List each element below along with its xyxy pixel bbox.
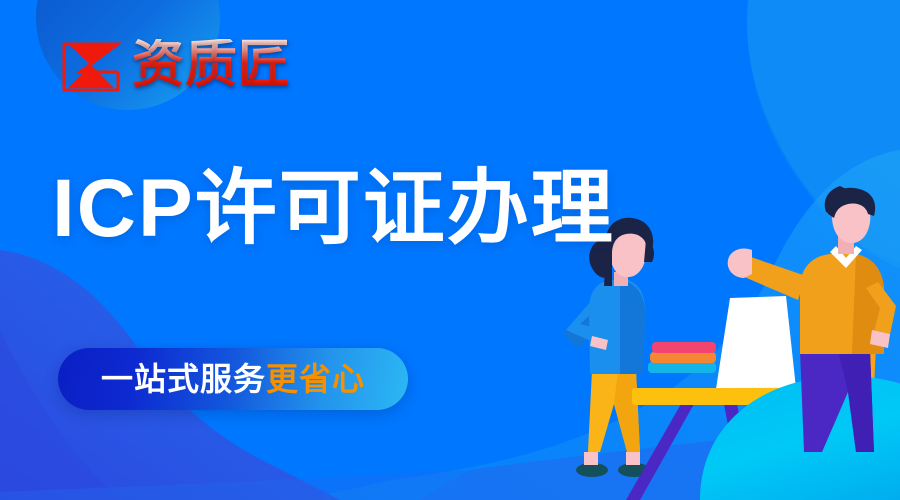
tagline-pill[interactable]: 一站式服务更省心 bbox=[58, 348, 408, 410]
brand-name: 资质匠 bbox=[132, 39, 291, 91]
tagline-main: 一站式服务 bbox=[101, 361, 266, 397]
icp-promo-banner: 资质匠 ICP许可证办理 一站式服务更省心 bbox=[0, 0, 900, 500]
tagline-text: 一站式服务更省心 bbox=[101, 363, 365, 395]
z-hourglass-mark-icon bbox=[58, 32, 124, 98]
brand-logo[interactable]: 资质匠 bbox=[58, 32, 291, 98]
tagline-accent: 更省心 bbox=[266, 361, 365, 397]
page-title: ICP许可证办理 bbox=[52, 168, 615, 250]
